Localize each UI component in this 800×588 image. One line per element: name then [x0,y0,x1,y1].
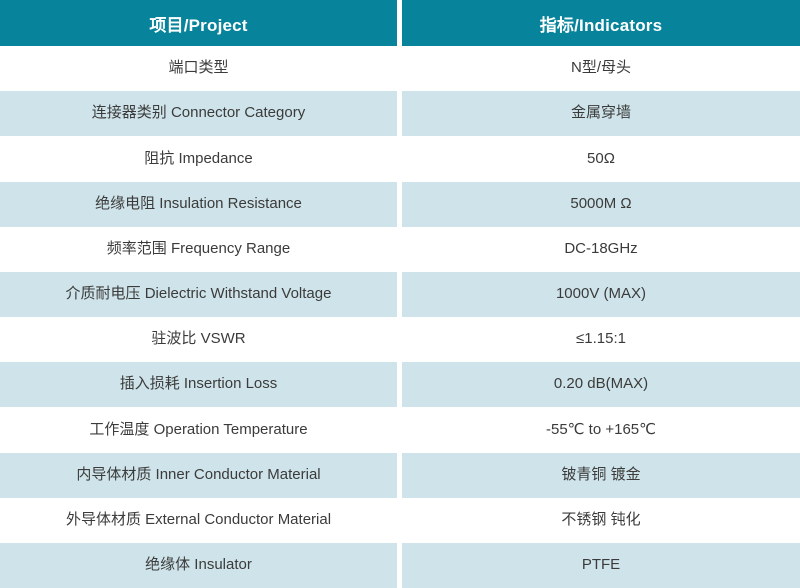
cell-indicators: N型/母头 [402,46,800,91]
cell-indicators: ≤1.15:1 [402,317,800,362]
table-row: 插入损耗 Insertion Loss0.20 dB(MAX) [0,362,800,407]
table-row: 介质耐电压 Dielectric Withstand Voltage1000V … [0,272,800,317]
table-row: 驻波比 VSWR≤1.15:1 [0,317,800,362]
column-header-project: 项目/Project [0,0,397,46]
cell-indicators: 金属穿墙 [402,91,800,136]
cell-indicators: 不锈钢 钝化 [402,498,800,543]
table-row: 外导体材质 External Conductor Material不锈钢 钝化 [0,498,800,543]
specification-table: 项目/Project 指标/Indicators 端口类型N型/母头连接器类别 … [0,0,800,588]
cell-project: 绝缘电阻 Insulation Resistance [0,182,397,227]
table-row: 连接器类别 Connector Category金属穿墙 [0,91,800,136]
cell-indicators: DC-18GHz [402,227,800,272]
cell-indicators: 50Ω [402,136,800,181]
cell-project: 外导体材质 External Conductor Material [0,498,397,543]
table-row: 频率范围 Frequency RangeDC-18GHz [0,227,800,272]
cell-indicators: PTFE [402,543,800,588]
table-row: 端口类型N型/母头 [0,46,800,91]
cell-project: 连接器类别 Connector Category [0,91,397,136]
cell-indicators: 铍青铜 镀金 [402,453,800,498]
cell-project: 工作温度 Operation Temperature [0,407,397,452]
table-row: 绝缘电阻 Insulation Resistance5000M Ω [0,182,800,227]
cell-project: 驻波比 VSWR [0,317,397,362]
cell-project: 内导体材质 Inner Conductor Material [0,453,397,498]
table-row: 工作温度 Operation Temperature-55℃ to +165℃ [0,407,800,452]
table-row: 绝缘体 InsulatorPTFE [0,543,800,588]
table-row: 阻抗 Impedance50Ω [0,136,800,181]
cell-project: 阻抗 Impedance [0,136,397,181]
column-header-indicators: 指标/Indicators [402,0,800,46]
cell-indicators: 5000M Ω [402,182,800,227]
cell-project: 频率范围 Frequency Range [0,227,397,272]
cell-project: 端口类型 [0,46,397,91]
cell-project: 插入损耗 Insertion Loss [0,362,397,407]
cell-indicators: 1000V (MAX) [402,272,800,317]
cell-indicators: -55℃ to +165℃ [402,407,800,452]
cell-indicators: 0.20 dB(MAX) [402,362,800,407]
table-header-row: 项目/Project 指标/Indicators [0,0,800,46]
table-row: 内导体材质 Inner Conductor Material铍青铜 镀金 [0,453,800,498]
cell-project: 绝缘体 Insulator [0,543,397,588]
cell-project: 介质耐电压 Dielectric Withstand Voltage [0,272,397,317]
